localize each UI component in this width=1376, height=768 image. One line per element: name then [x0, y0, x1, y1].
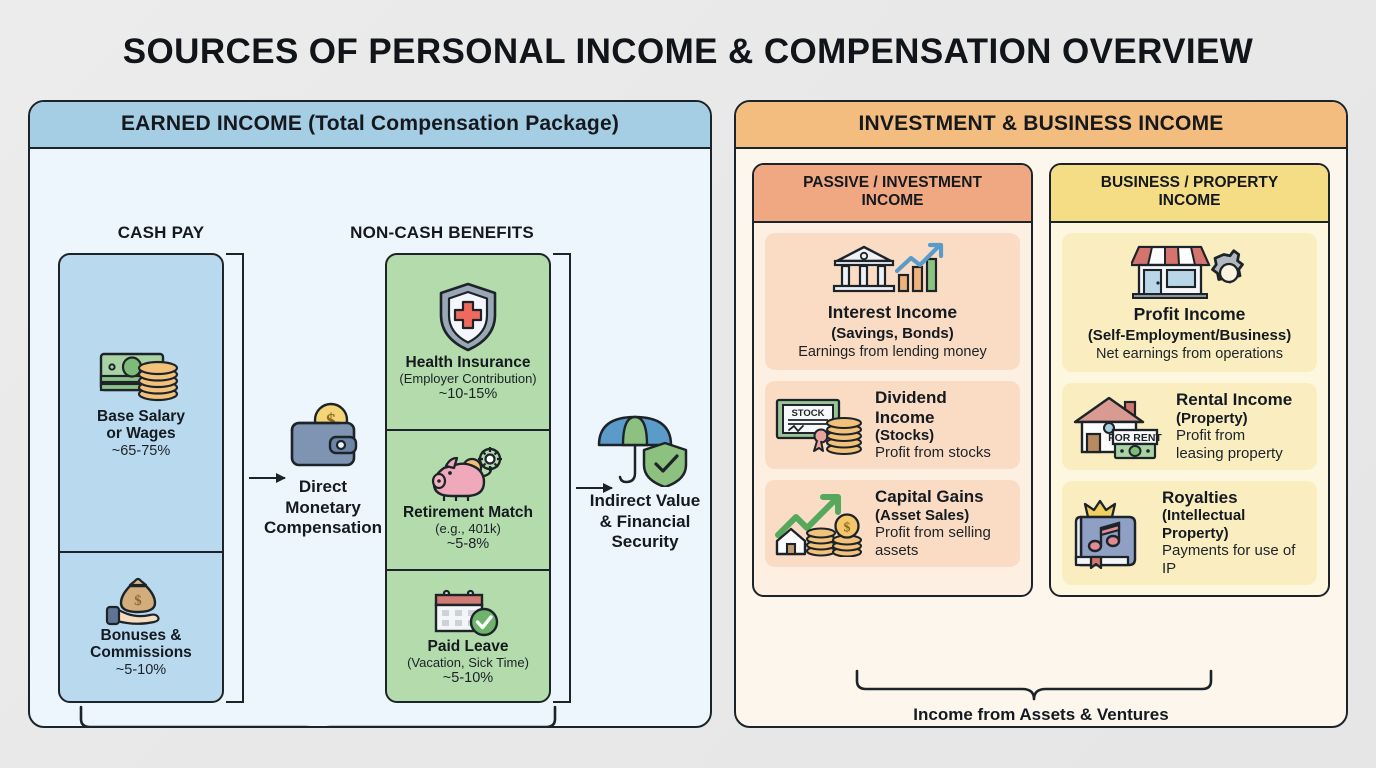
passive-investment-income-column: PASSIVE / INVESTMENT INCOME — [752, 163, 1033, 597]
direct-node-line-2: Monetary — [248, 498, 398, 519]
business-income-header-line-2: INCOME — [1055, 192, 1324, 210]
investment-business-body: PASSIVE / INVESTMENT INCOME — [736, 149, 1346, 726]
non-cash-benefits-stack: Health Insurance (Employer Contribution)… — [385, 253, 551, 703]
card-bonuses-commissions[interactable]: $ Bonuses & Commissions ~5-10% — [60, 553, 222, 701]
indirect-node-line-3: Security — [570, 532, 712, 553]
total-compensation-brace — [78, 705, 558, 728]
storefront-gear-icon — [1131, 241, 1249, 303]
card-royalties-subtitle: (Intellectual Property) — [1162, 507, 1308, 542]
card-royalties-text: Royalties (Intellectual Property) Paymen… — [1162, 488, 1308, 578]
card-bonuses-title-2: Commissions — [90, 644, 192, 661]
direct-monetary-compensation-node: $ Direct Monetary Compensation — [248, 401, 398, 539]
diagram-board: EARNED INCOME (Total Compensation Packag… — [0, 100, 1376, 748]
assets-ventures-brace — [854, 669, 1214, 701]
card-dividend-income-desc: Profit from stocks — [875, 444, 1011, 462]
piggy-bank-icon — [428, 446, 508, 504]
earned-income-header: EARNED INCOME (Total Compensation Packag… — [30, 102, 710, 149]
card-dividend-income-text: Dividend Income (Stocks) Profit from sto… — [875, 388, 1011, 462]
card-base-salary-percent: ~65-75% — [112, 443, 170, 460]
card-royalties-title: Royalties — [1162, 488, 1308, 507]
svg-text:FOR RENT: FOR RENT — [1108, 432, 1162, 444]
card-royalties-desc: Payments for use of IP — [1162, 542, 1308, 578]
card-profit-income-subtitle: (Self-Employment/Business) — [1088, 327, 1291, 344]
svg-text:$: $ — [844, 520, 851, 535]
card-capital-gains-title: Capital Gains — [875, 487, 1011, 506]
passive-income-header: PASSIVE / INVESTMENT INCOME — [754, 165, 1031, 223]
card-paid-leave-title: Paid Leave — [428, 638, 509, 655]
svg-text:STOCK: STOCK — [791, 408, 824, 419]
card-base-salary[interactable]: Base Salary or Wages ~65-75% — [60, 255, 222, 553]
card-paid-leave-subtitle: (Vacation, Sick Time) — [407, 656, 529, 671]
card-capital-gains-desc-2: assets — [875, 542, 1011, 560]
growth-arrow-house-coins-icon: $ — [774, 491, 866, 557]
card-retirement-match-subtitle: (e.g., 401k) — [435, 522, 501, 537]
cash-pay-column-label: CASH PAY — [58, 223, 264, 243]
card-dividend-income-subtitle: (Stocks) — [875, 427, 1011, 444]
shield-medical-icon — [435, 280, 501, 354]
card-retirement-match-percent: ~5-8% — [447, 536, 489, 553]
investment-columns: PASSIVE / INVESTMENT INCOME — [752, 163, 1330, 597]
card-retirement-match-title: Retirement Match — [403, 504, 533, 521]
card-health-insurance[interactable]: Health Insurance (Employer Contribution)… — [387, 255, 549, 431]
card-paid-leave[interactable]: Paid Leave (Vacation, Sick Time) ~5-10% — [387, 571, 549, 701]
card-paid-leave-percent: ~5-10% — [443, 670, 493, 687]
indirect-value-node: Indirect Value & Financial Security — [570, 411, 712, 553]
indirect-node-line-1: Indirect Value — [570, 491, 712, 512]
investment-business-header: INVESTMENT & BUSINESS INCOME — [736, 102, 1346, 149]
card-capital-gains-text: Capital Gains (Asset Sales) Profit from … — [875, 487, 1011, 560]
passive-income-header-line-2: INCOME — [758, 192, 1027, 210]
house-for-rent-icon: FOR RENT — [1071, 394, 1167, 460]
card-capital-gains-desc-1: Profit from selling — [875, 524, 1011, 542]
cash-stack-icon — [98, 346, 184, 408]
card-dividend-income-title-1: Dividend — [875, 388, 1011, 407]
card-health-insurance-percent: ~10-15% — [439, 386, 497, 403]
card-capital-gains[interactable]: $ Capital Gains (Asset Sales) Profit fro… — [765, 480, 1020, 567]
card-interest-income-title: Interest Income — [828, 303, 957, 323]
direct-node-line-1: Direct — [248, 477, 398, 498]
card-bonuses-title-1: Bonuses & — [101, 627, 182, 644]
business-property-income-column: BUSINESS / PROPERTY INCOME — [1049, 163, 1330, 597]
earned-income-panel: EARNED INCOME (Total Compensation Packag… — [28, 100, 712, 728]
card-dividend-income[interactable]: STOCK — [765, 381, 1020, 469]
card-retirement-match[interactable]: Retirement Match (e.g., 401k) ~5-8% — [387, 431, 549, 571]
card-bonuses-percent: ~5-10% — [116, 662, 166, 679]
wallet-coin-icon: $ — [248, 401, 398, 473]
business-income-header-line-1: BUSINESS / PROPERTY — [1055, 174, 1324, 192]
cash-pay-stack: Base Salary or Wages ~65-75% $ — [58, 253, 224, 703]
business-income-header: BUSINESS / PROPERTY INCOME — [1051, 165, 1328, 223]
calendar-check-icon — [432, 584, 504, 638]
card-profit-income-title: Profit Income — [1134, 305, 1246, 325]
stock-certificate-coins-icon: STOCK — [774, 394, 866, 456]
umbrella-shield-icon — [570, 411, 712, 487]
passive-income-cards: Interest Income (Savings, Bonds) Earning… — [754, 223, 1031, 596]
card-interest-income-subtitle: (Savings, Bonds) — [831, 325, 954, 342]
card-rental-income-desc-1: Profit from — [1176, 427, 1308, 445]
card-profit-income-desc: Net earnings from operations — [1096, 346, 1283, 363]
card-base-salary-title-2: or Wages — [106, 425, 175, 442]
investment-business-panel: INVESTMENT & BUSINESS INCOME PASSIVE / I… — [734, 100, 1348, 728]
direct-node-line-3: Compensation — [248, 518, 398, 539]
card-interest-income-desc: Earnings from lending money — [798, 344, 987, 361]
card-health-insurance-title: Health Insurance — [406, 354, 531, 371]
non-cash-benefits-column-label: NON-CASH BENEFITS — [327, 223, 557, 243]
bank-growth-chart-icon — [831, 241, 955, 301]
money-bag-hand-icon: $ — [103, 575, 179, 627]
card-rental-income-desc-2: leasing property — [1176, 445, 1308, 463]
card-rental-income-subtitle: (Property) — [1176, 410, 1308, 427]
passive-income-header-line-1: PASSIVE / INVESTMENT — [758, 174, 1027, 192]
card-rental-income[interactable]: FOR RENT Rental Income (Property) — [1062, 383, 1317, 470]
page-title: SOURCES OF PERSONAL INCOME & COMPENSATIO… — [0, 0, 1376, 72]
card-dividend-income-title-2: Income — [875, 408, 1011, 427]
assets-ventures-caption: Income from Assets & Ventures — [736, 705, 1346, 725]
card-health-insurance-subtitle: (Employer Contribution) — [399, 372, 536, 387]
card-profit-income[interactable]: Profit Income (Self-Employment/Business)… — [1062, 233, 1317, 373]
card-capital-gains-subtitle: (Asset Sales) — [875, 507, 1011, 524]
crowned-music-book-icon — [1071, 497, 1153, 569]
business-income-cards: Profit Income (Self-Employment/Business)… — [1051, 223, 1328, 596]
card-rental-income-text: Rental Income (Property) Profit from lea… — [1176, 390, 1308, 463]
indirect-node-line-2: & Financial — [570, 512, 712, 533]
svg-text:$: $ — [134, 593, 142, 609]
card-interest-income[interactable]: Interest Income (Savings, Bonds) Earning… — [765, 233, 1020, 371]
earned-income-body: CASH PAY NON-CASH BENEFITS — [30, 149, 710, 726]
card-rental-income-title: Rental Income — [1176, 390, 1308, 409]
card-royalties[interactable]: Royalties (Intellectual Property) Paymen… — [1062, 481, 1317, 585]
card-base-salary-title-1: Base Salary — [97, 408, 185, 425]
